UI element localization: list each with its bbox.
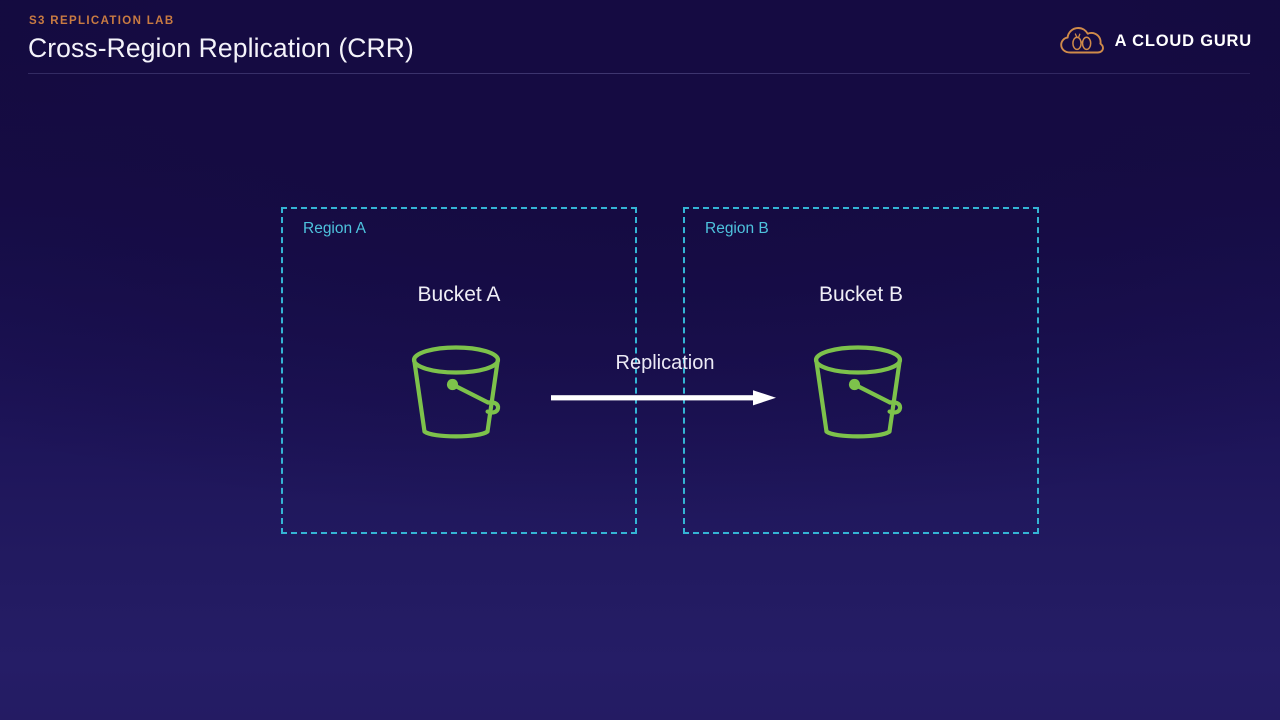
region-b-label: Region B	[705, 220, 769, 238]
slide-canvas: S3 REPLICATION LAB Cross-Region Replicat…	[0, 0, 1280, 720]
replication-diagram: Region A Bucket A Region B	[0, 0, 1280, 720]
region-a-label: Region A	[303, 220, 366, 238]
replication-label: Replication	[545, 352, 785, 375]
arrow-right-icon	[545, 386, 785, 410]
bucket-b-title: Bucket B	[685, 283, 1037, 307]
bucket-a-title: Bucket A	[283, 283, 635, 307]
replication-flow: Replication	[545, 352, 785, 410]
s3-bucket-icon	[804, 337, 918, 449]
s3-bucket-icon	[402, 337, 516, 449]
